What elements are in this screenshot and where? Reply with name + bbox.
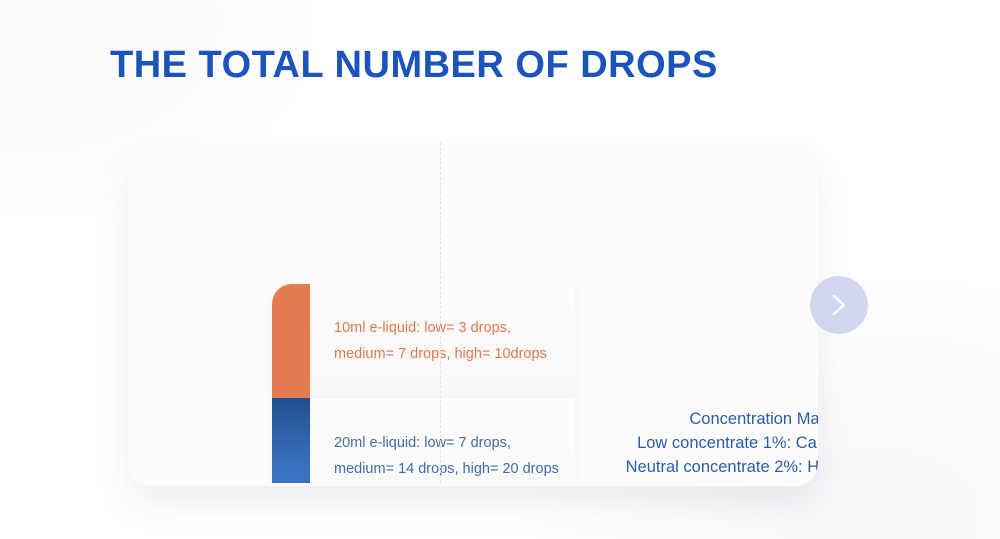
page-title: THE TOTAL NUMBER OF DROPS [110, 44, 718, 87]
color-tab-orange [272, 284, 310, 398]
chevron-right-icon [828, 292, 850, 318]
drops-row-text-20ml: 20ml e-liquid: low= 7 drops, medium= 14 … [334, 430, 574, 482]
drops-row-list: 10ml e-liquid: low= 3 drops, medium= 7 d… [272, 284, 575, 483]
drops-row-10ml[interactable]: 10ml e-liquid: low= 3 drops, medium= 7 d… [272, 284, 575, 398]
vertical-dashed-divider [440, 142, 441, 483]
color-tab-blue [272, 398, 310, 483]
concentration-matrix-text: Concentration Matrix Low concentrate 1%:… [626, 407, 818, 484]
next-button[interactable] [810, 276, 868, 334]
drops-row-text-10ml: 10ml e-liquid: low= 3 drops, medium= 7 d… [334, 315, 574, 367]
drops-row-20ml[interactable]: 20ml e-liquid: low= 7 drops, medium= 14 … [272, 398, 575, 483]
concentration-matrix-panel: Concentration Matrix Low concentrate 1%:… [577, 284, 818, 483]
info-card: 10ml e-liquid: low= 3 drops, medium= 7 d… [136, 142, 818, 483]
